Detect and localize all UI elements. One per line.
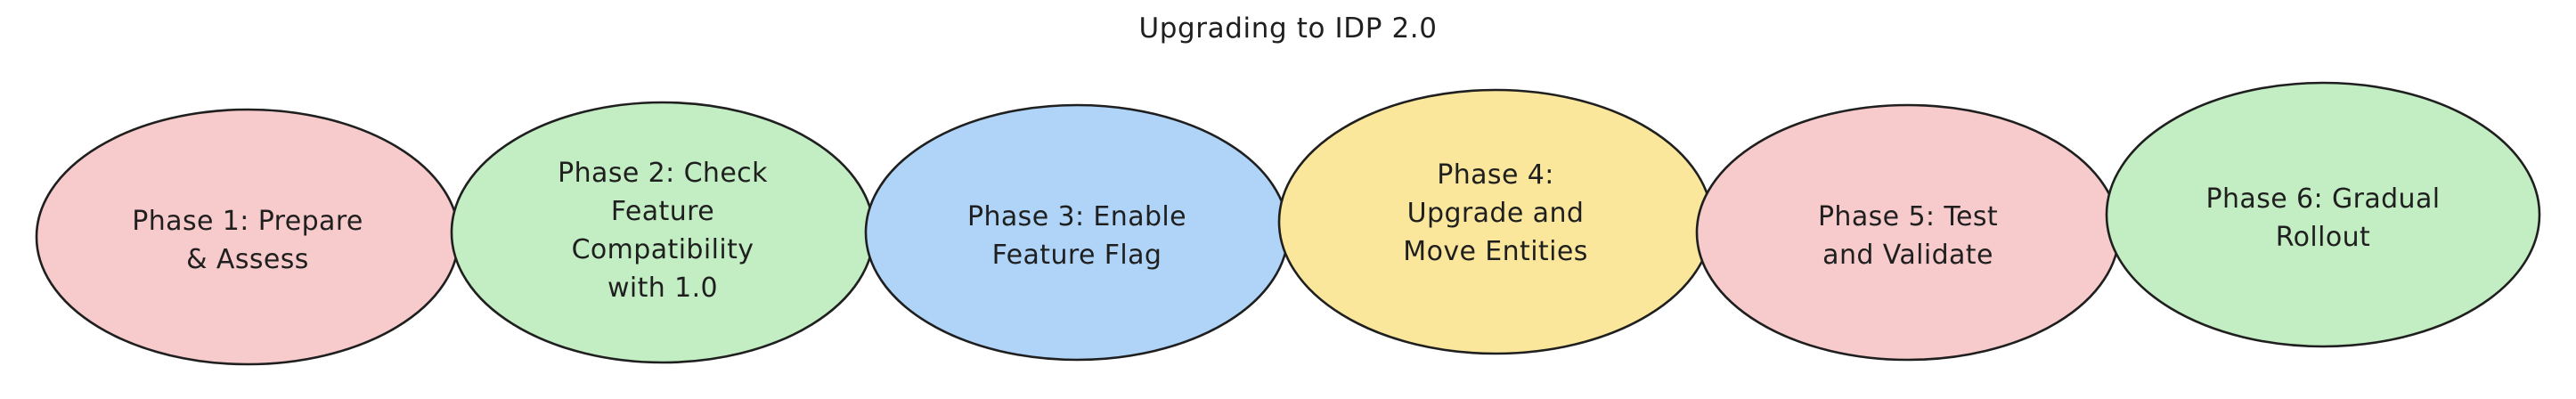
node-phase6-label-line1: Phase 6: Gradual [2206, 183, 2441, 215]
node-phase3[interactable]: Phase 3: Enable Feature Flag [866, 105, 1288, 360]
node-phase4-label-line3: Move Entities [1403, 236, 1587, 267]
node-phase6[interactable]: Phase 6: Gradual Rollout [2107, 83, 2539, 346]
node-phase2-label-line4: with 1.0 [607, 273, 718, 304]
node-phase1-label-line2: & Assess [186, 244, 309, 275]
node-phase4-label-line2: Upgrade and [1407, 198, 1585, 229]
node-phase1-ellipse[interactable] [37, 110, 459, 364]
flowchart-svg: Upgrading to IDP 2.0 Phase 1: Prepare & … [0, 0, 2576, 399]
node-phase1[interactable]: Phase 1: Prepare & Assess [37, 110, 459, 364]
node-phase5-ellipse[interactable] [1697, 105, 2119, 360]
node-phase5-label-line2: and Validate [1822, 240, 1993, 271]
node-phase2-label-line1: Phase 2: Check [558, 158, 768, 189]
node-phase4[interactable]: Phase 4: Upgrade and Move Entities [1279, 90, 1712, 354]
diagram-title: Upgrading to IDP 2.0 [1138, 12, 1437, 45]
node-phase5-label-line1: Phase 5: Test [1818, 201, 1998, 232]
node-phase2[interactable]: Phase 2: Check Feature Compatibility wit… [452, 102, 874, 362]
node-phase3-ellipse[interactable] [866, 105, 1288, 360]
node-phase4-label-line1: Phase 4: [1437, 159, 1554, 191]
flowchart-canvas: Upgrading to IDP 2.0 Phase 1: Prepare & … [0, 0, 2576, 399]
node-phase5[interactable]: Phase 5: Test and Validate [1697, 105, 2119, 360]
node-phase2-label-line2: Feature [611, 196, 714, 227]
node-phase1-label-line1: Phase 1: Prepare [132, 206, 363, 237]
node-phase6-label-line2: Rollout [2276, 222, 2370, 253]
node-phase3-label-line2: Feature Flag [992, 240, 1162, 271]
node-phase3-label-line1: Phase 3: Enable [967, 201, 1186, 232]
node-phase2-ellipse[interactable] [452, 102, 874, 362]
node-phase6-ellipse[interactable] [2107, 83, 2539, 346]
node-phase2-label-line3: Compatibility [572, 234, 754, 265]
